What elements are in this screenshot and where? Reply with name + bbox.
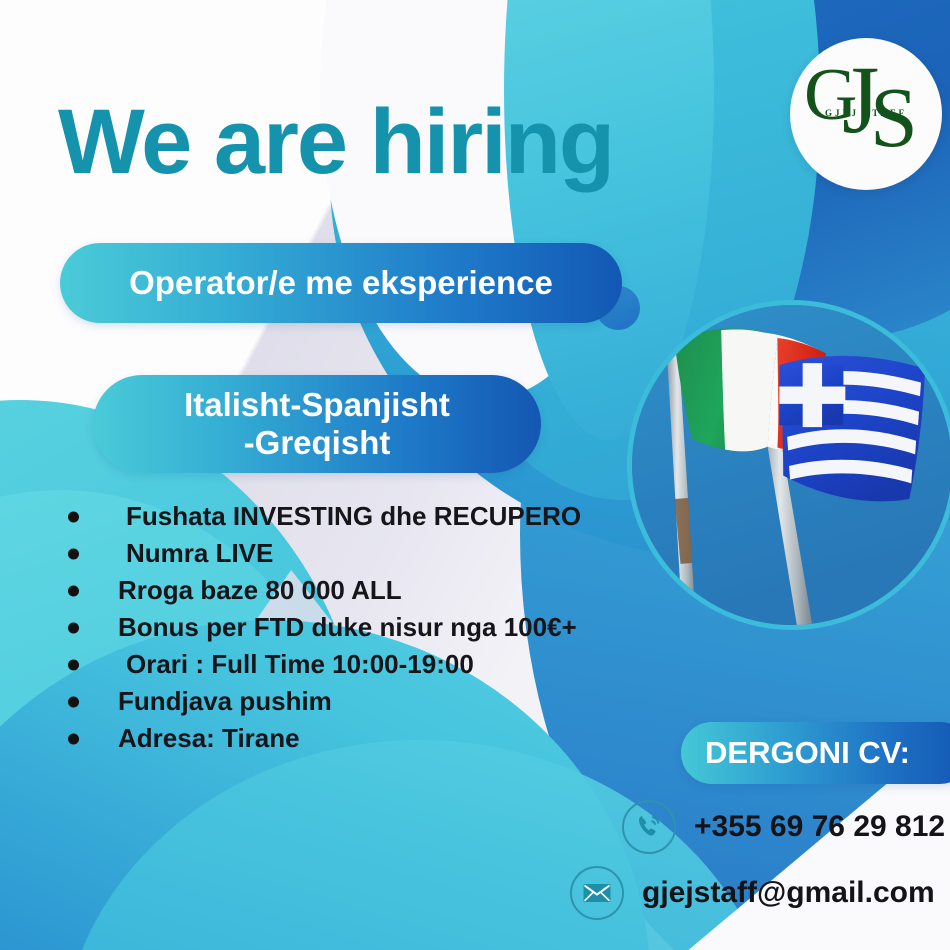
company-logo: G J S GJEJ STAFF [790, 38, 942, 190]
list-item-label: Adresa: Tirane [118, 723, 300, 754]
role-badge: Operator/e me eksperience [60, 243, 622, 323]
contact-email[interactable]: gjejstaff@gmail.com [570, 866, 935, 920]
list-item: Rroga baze 80 000 ALL [60, 572, 640, 609]
list-item-label: Numra LIVE [126, 538, 273, 569]
send-cv-badge: DERGONI CV: [681, 722, 950, 784]
bullet-dot-icon [68, 585, 79, 596]
bullet-dot-icon [68, 659, 79, 670]
bullet-dot-icon [68, 696, 79, 707]
contact-phone[interactable]: +355 69 76 29 812 [622, 800, 945, 854]
list-item: Adresa: Tirane [60, 720, 640, 757]
languages-badge-line-1: Italisht-Spanjisht [184, 386, 450, 424]
languages-badge-line-2: -Greqisht [244, 424, 391, 462]
list-item: Numra LIVE [60, 535, 640, 572]
list-item-label: Orari : Full Time 10:00-19:00 [126, 649, 474, 680]
page-title: We are hiring [58, 96, 613, 188]
list-item: Fushata INVESTING dhe RECUPERO [60, 498, 640, 535]
bullet-dot-icon [68, 733, 79, 744]
list-item: Bonus per FTD duke nisur nga 100€+ [60, 609, 640, 646]
list-item: Orari : Full Time 10:00-19:00 [60, 646, 640, 683]
logo-monogram: G J S GJEJ STAFF [796, 54, 936, 174]
languages-badge: Italisht-Spanjisht -Greqisht [93, 375, 541, 473]
role-badge-label: Operator/e me eksperience [129, 264, 553, 302]
phone-icon [622, 800, 676, 854]
logo-subtitle: GJEJ STAFF [796, 108, 936, 118]
flags-photo [627, 300, 950, 630]
email-icon [570, 866, 624, 920]
hiring-poster: G J S GJEJ STAFF We are hiring Operator/… [0, 0, 950, 950]
phone-number: +355 69 76 29 812 [694, 810, 945, 844]
list-item: Fundjava pushim [60, 683, 640, 720]
flags-illustration [632, 305, 950, 625]
bullet-dot-icon [68, 548, 79, 559]
bullet-dot-icon [68, 511, 79, 522]
list-item-label: Fundjava pushim [118, 686, 332, 717]
send-cv-label: DERGONI CV: [705, 735, 910, 771]
list-item-label: Fushata INVESTING dhe RECUPERO [126, 501, 581, 532]
list-item-label: Rroga baze 80 000 ALL [118, 575, 402, 606]
benefits-list: Fushata INVESTING dhe RECUPERO Numra LIV… [60, 498, 640, 757]
bullet-dot-icon [68, 622, 79, 633]
email-address: gjejstaff@gmail.com [642, 876, 935, 910]
list-item-label: Bonus per FTD duke nisur nga 100€+ [118, 612, 577, 643]
